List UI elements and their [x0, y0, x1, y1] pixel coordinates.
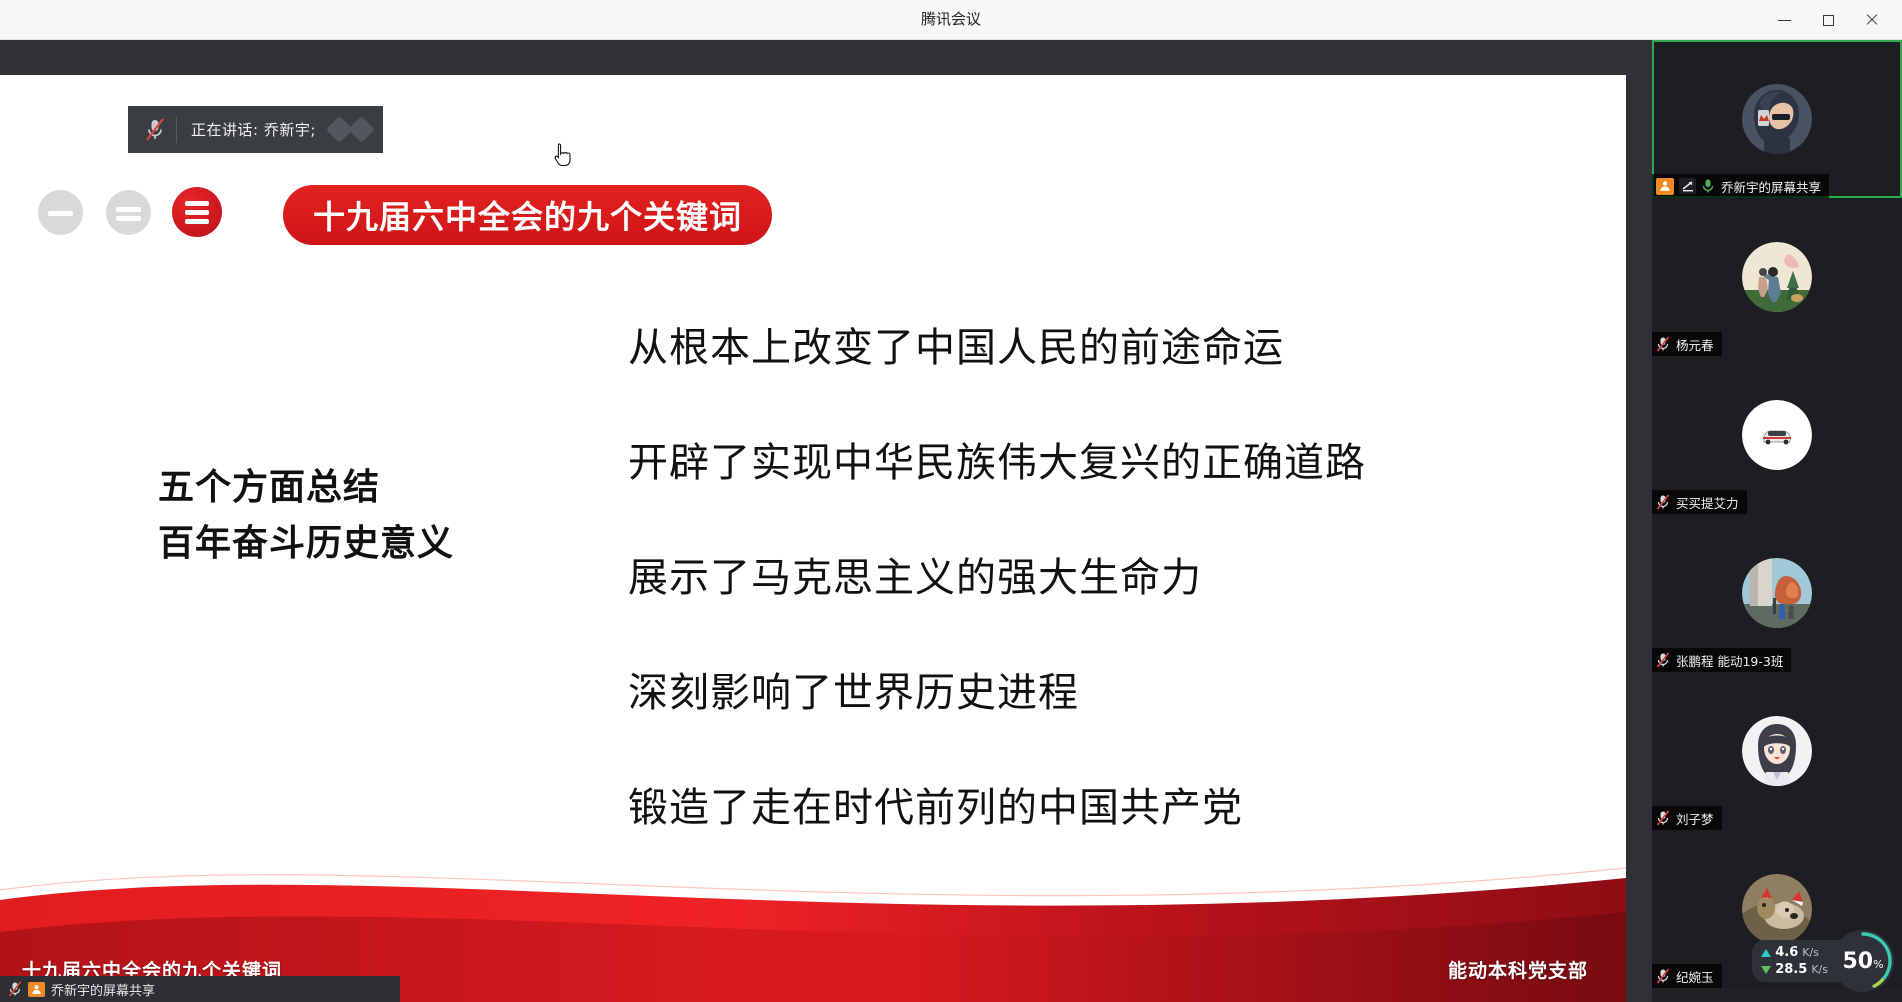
screen-share-owner-text: 乔新宇的屏幕共享 — [51, 980, 155, 999]
minimize-button[interactable] — [1762, 3, 1806, 37]
host-badge-icon — [1656, 178, 1674, 195]
upload-speed-unit: K/s — [1802, 946, 1819, 959]
slide-title: 十九届六中全会的九个关键词 — [283, 185, 772, 245]
battery-gauge[interactable]: 50% — [1832, 930, 1894, 992]
mic-muted-icon — [1656, 494, 1671, 511]
screen-share-status-strip: 乔新宇的屏幕共享 — [0, 976, 400, 1002]
slide-bullet-2: 开辟了实现中华民族伟大复兴的正确道路 — [628, 440, 1608, 486]
gauge-label: 50% — [1832, 930, 1894, 992]
deco-circle-two-icon — [106, 190, 151, 235]
gauge-value: 50 — [1842, 949, 1873, 974]
participant-tile[interactable]: 张鹏程 能动19-3班 — [1652, 514, 1902, 672]
slide-heading-line-1: 五个方面总结 — [158, 460, 578, 516]
avatar — [1742, 558, 1812, 628]
close-button[interactable] — [1850, 3, 1894, 37]
tile-label: 买买提艾力 — [1652, 490, 1747, 514]
host-badge-icon — [28, 982, 45, 997]
participant-tile[interactable]: 刘子梦 — [1652, 672, 1902, 830]
tencent-meeting-logo-icon — [330, 120, 371, 139]
footer-right-text: 能动本科党支部 — [1448, 956, 1588, 983]
tile-label: 刘子梦 — [1652, 806, 1722, 830]
participant-name: 刘子梦 — [1676, 809, 1714, 828]
download-speed-unit: K/s — [1811, 963, 1828, 976]
window-controls — [1762, 0, 1894, 40]
avatar — [1742, 242, 1812, 312]
window-title: 腾讯会议 — [0, 0, 1902, 40]
stage-top-strip — [0, 40, 1652, 75]
participant-name: 乔新宇的屏幕共享 — [1721, 177, 1821, 196]
slide-bullet-4: 深刻影响了世界历史进程 — [628, 670, 1608, 716]
upload-arrow-icon — [1761, 949, 1771, 957]
shared-screen-stage: 十九届六中全会的九个关键词 五个方面总结 百年奋斗历史意义 从根本上改变了中国人… — [0, 40, 1652, 1002]
slide-heading-line-2: 百年奋斗历史意义 — [158, 516, 578, 572]
mic-on-icon — [1701, 178, 1716, 195]
tile-label: 乔新宇的屏幕共享 — [1652, 174, 1829, 198]
upload-speed-row: 4.6 K/s — [1761, 945, 1828, 960]
participant-tile[interactable]: 杨元春 — [1652, 198, 1902, 356]
mic-muted-icon — [1656, 968, 1671, 985]
banner-divider — [176, 117, 177, 143]
mic-muted-icon — [1656, 336, 1671, 353]
deco-circle-one-icon — [38, 190, 83, 235]
avatar — [1742, 400, 1812, 470]
upload-speed-value: 4.6 — [1775, 945, 1798, 960]
download-speed-value: 28.5 — [1775, 962, 1807, 977]
slide-bullet-3: 展示了马克思主义的强大生命力 — [628, 555, 1608, 601]
network-status-widget[interactable]: 4.6 K/s 28.5 K/s 50% — [1752, 930, 1894, 992]
participant-name: 买买提艾力 — [1676, 493, 1739, 512]
mouse-cursor-icon — [553, 142, 573, 168]
maximize-button[interactable] — [1806, 3, 1850, 37]
mic-muted-icon — [144, 117, 166, 143]
slide-bullet-1: 从根本上改变了中国人民的前途命运 — [628, 325, 1608, 371]
gauge-unit: % — [1873, 958, 1883, 971]
participant-tile[interactable]: 买买提艾力 — [1652, 356, 1902, 514]
participant-panel[interactable]: 乔新宇的屏幕共享 — [1652, 40, 1902, 1002]
deco-circle-three-icon — [172, 187, 222, 237]
tile-label: 纪婉玉 — [1652, 964, 1722, 988]
download-arrow-icon — [1761, 966, 1771, 974]
slide-left-heading-group: 五个方面总结 百年奋斗历史意义 — [158, 460, 578, 572]
tile-label: 张鹏程 能动19-3班 — [1652, 648, 1791, 672]
minimize-icon — [1778, 20, 1791, 21]
window-title-bar: 腾讯会议 — [0, 0, 1902, 40]
slide-bullet-group: 从根本上改变了中国人民的前途命运 开辟了实现中华民族伟大复兴的正确道路 展示了马… — [628, 325, 1608, 831]
speaking-text: 正在讲话: 乔新宇; — [191, 119, 316, 140]
maximize-icon — [1823, 15, 1834, 26]
participant-tile[interactable]: 乔新宇的屏幕共享 — [1652, 40, 1902, 198]
close-icon — [1865, 13, 1879, 27]
presentation-slide: 十九届六中全会的九个关键词 五个方面总结 百年奋斗历史意义 从根本上改变了中国人… — [0, 75, 1626, 1002]
participant-name: 杨元春 — [1676, 335, 1714, 354]
mic-muted-icon — [8, 981, 22, 997]
speaking-banner: 正在讲话: 乔新宇; — [128, 106, 383, 153]
avatar — [1742, 84, 1812, 154]
participant-name: 张鹏程 能动19-3班 — [1676, 651, 1783, 670]
participant-name: 纪婉玉 — [1676, 967, 1714, 986]
mic-muted-icon — [1656, 810, 1671, 827]
tile-label: 杨元春 — [1652, 332, 1722, 356]
slide-bullet-5: 锻造了走在时代前列的中国共产党 — [628, 785, 1608, 831]
avatar — [1742, 716, 1812, 786]
download-speed-row: 28.5 K/s — [1761, 962, 1828, 977]
mic-muted-icon — [1656, 652, 1671, 669]
screen-share-icon — [1679, 178, 1696, 194]
